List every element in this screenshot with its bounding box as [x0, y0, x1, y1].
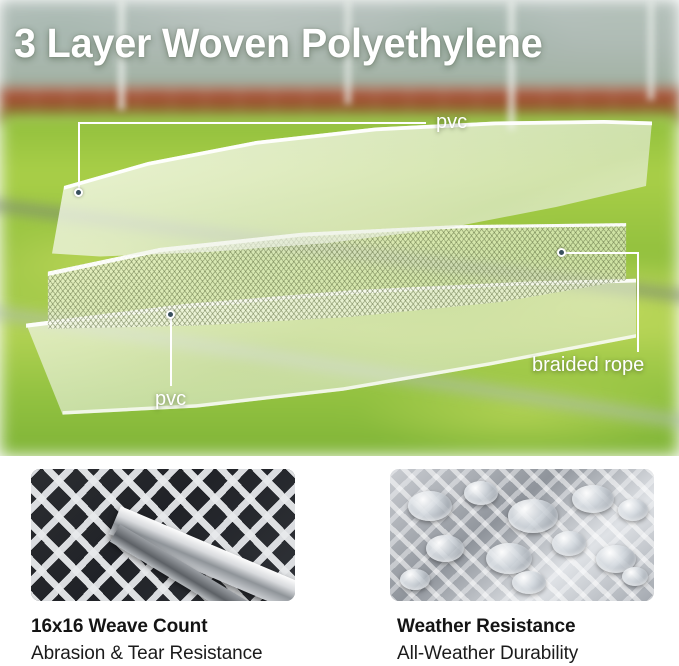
water-droplet: [486, 543, 532, 574]
callout-label-braided-rope: braided rope: [532, 355, 644, 375]
feature-subtitle-weather-resistance: All-Weather Durability: [397, 643, 578, 665]
callout-leader-line-horizontal: [561, 252, 639, 254]
callout-leader-line-vertical: [78, 122, 80, 192]
water-droplet: [622, 567, 648, 586]
callout-dot-marker: [166, 310, 175, 319]
callout-label-pvc-top: pvc: [436, 112, 467, 132]
water-droplet: [426, 535, 464, 562]
callout-label-pvc-bottom: pvc: [155, 389, 186, 409]
page-title: 3 Layer Woven Polyethylene: [14, 23, 543, 64]
water-droplet: [512, 571, 546, 594]
background-greenhouse-post: [648, 0, 654, 100]
water-droplet: [552, 531, 586, 556]
feature-subtitle-weave-count: Abrasion & Tear Resistance: [31, 643, 263, 665]
callout-leader-line-vertical: [637, 252, 639, 352]
feature-title-weave-count: 16x16 Weave Count: [31, 616, 207, 638]
callout-leader-line-vertical: [170, 314, 172, 386]
infographic-page: 3 Layer Woven Polyethylene pvc braided r…: [0, 0, 679, 666]
callout-dot-marker: [74, 188, 83, 197]
feature-title-weather-resistance: Weather Resistance: [397, 616, 575, 638]
water-droplet: [400, 569, 430, 590]
feature-image-woven-mesh: [31, 469, 295, 601]
water-droplet: [464, 481, 498, 505]
water-droplet: [508, 499, 558, 533]
hero-product-photo: 3 Layer Woven Polyethylene pvc braided r…: [0, 0, 679, 456]
water-droplet: [618, 499, 648, 521]
water-droplet: [408, 491, 452, 521]
feature-image-water-droplets: [390, 469, 654, 601]
water-droplet: [572, 485, 614, 513]
callout-leader-line-horizontal: [78, 122, 426, 124]
callout-dot-marker: [557, 248, 566, 257]
